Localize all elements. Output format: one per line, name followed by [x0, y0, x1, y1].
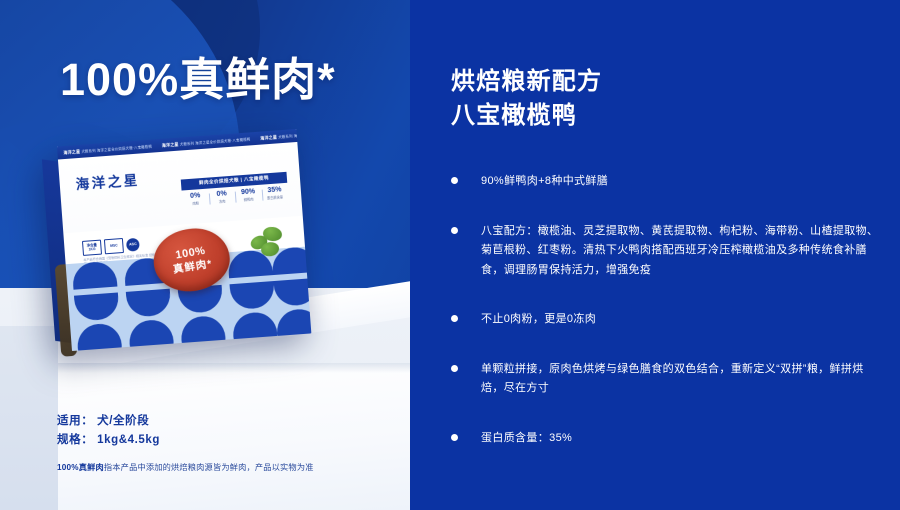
product-spec-block: 适用： 犬/全阶段 规格： 1kg&4.5kg [57, 412, 160, 450]
bullet-dot-icon [451, 177, 458, 184]
section-title-line2: 八宝橄榄鸭 [451, 99, 602, 133]
certification-badges: 净含量 1KG MSC ASC [82, 237, 140, 256]
band-tag-1: 犬粮系列 [180, 141, 195, 146]
spec-stat-value: 0% [208, 189, 235, 198]
section-title-line1: 烘焙粮新配方 [451, 65, 602, 99]
product-marketing-banner: 100%真鲜肉* 海洋之星 犬粮系列 海洋之星全价烘焙犬粮·八宝橄榄鸭 海洋之星… [0, 0, 900, 510]
band-brand-2: 海洋之星 [260, 134, 277, 140]
feature-list: 90%鲜鸭肉+8种中式鲜膳 八宝配方：橄榄油、灵芝提取物、黄芪提取物、枸杞粉、海… [451, 172, 883, 479]
spec-line-size: 规格： 1kg&4.5kg [57, 431, 160, 450]
band-url-0: 海洋之星全价烘焙犬粮·八宝橄榄鸭 [97, 144, 152, 152]
spec-line-usage: 适用： 犬/全阶段 [57, 412, 160, 431]
list-item: 蛋白质含量：35% [451, 429, 883, 449]
band-tag-0: 犬粮系列 [81, 148, 96, 153]
spec-stat-value: 90% [235, 187, 262, 196]
bullet-dot-icon [451, 365, 458, 372]
list-item-text: 单颗粒拼接，原肉色烘烤与绿色膳食的双色结合，重新定义“双拼”粮，鲜拼烘焙，尽在方… [481, 360, 883, 399]
product-package: 海洋之星 犬粮系列 海洋之星全价烘焙犬粮·八宝橄榄鸭 海洋之星 犬粮系列 海洋之… [57, 129, 311, 351]
band-tag-2: 犬粮系列 [278, 134, 293, 139]
list-item: 不止0肉粉，更是0冻肉 [451, 310, 883, 330]
asc-certification-icon: ASC [126, 238, 140, 252]
spec-stat-value: 35% [261, 186, 288, 195]
bullet-dot-icon [451, 315, 458, 322]
list-item-text: 蛋白质含量：35% [481, 429, 572, 449]
net-weight-badge: 净含量 1KG [82, 240, 102, 256]
list-item-text: 不止0肉粉，更是0冻肉 [481, 310, 596, 330]
list-item: 单颗粒拼接，原肉色烘烤与绿色膳食的双色结合，重新定义“双拼”粮，鲜拼烘焙，尽在方… [451, 360, 883, 399]
band-brand-1: 海洋之星 [162, 141, 179, 147]
footnote-bold-part: 100%真鲜肉 [57, 463, 104, 472]
bullet-dot-icon [451, 227, 458, 234]
footnote-rest-part: 指本产品中添加的烘焙粮肉源皆为鲜肉，产品以实物为准 [104, 463, 314, 472]
olive-illustration [250, 225, 296, 262]
spec-stat: 0% 肉粉 [182, 191, 209, 206]
spec-stat: 90% 鲜鸭肉 [235, 187, 262, 202]
band-url-1: 海洋之星全价烘焙犬粮·八宝橄榄鸭 [195, 137, 250, 145]
list-item: 八宝配方：橄榄油、灵芝提取物、黄芪提取物、枸杞粉、海带粉、山楂提取物、菊苣根粉、… [451, 222, 883, 281]
list-item-text: 90%鲜鸭肉+8种中式鲜膳 [481, 172, 608, 192]
spec-stat: 35% 蛋白质含量 [261, 186, 288, 201]
section-title: 烘焙粮新配方 八宝橄榄鸭 [451, 65, 602, 133]
band-brand-0: 海洋之星 [63, 148, 80, 154]
page-title: 100%真鲜肉* [60, 57, 336, 102]
spec-stat: 0% 冻肉 [208, 189, 235, 204]
right-panel: 烘焙粮新配方 八宝橄榄鸭 90%鲜鸭肉+8种中式鲜膳 八宝配方：橄榄油、灵芝提取… [410, 0, 900, 510]
msc-certification-icon: MSC [104, 238, 124, 254]
pedestal-side-face [0, 326, 60, 510]
list-item: 90%鲜鸭肉+8种中式鲜膳 [451, 172, 883, 192]
list-item-text: 八宝配方：橄榄油、灵芝提取物、黄芪提取物、枸杞粉、海带粉、山楂提取物、菊苣根粉、… [481, 222, 883, 281]
legal-footnote: 100%真鲜肉指本产品中添加的烘焙粮肉源皆为鲜肉，产品以实物为准 [57, 461, 314, 473]
seal-label: 真鲜肉* [172, 259, 213, 276]
bullet-dot-icon [451, 434, 458, 441]
spec-stat-value: 0% [182, 191, 209, 200]
pedestal-shadow [58, 363, 410, 373]
package-front-panel: 海洋之星 犬粮系列 海洋之星全价烘焙犬粮·八宝橄榄鸭 海洋之星 犬粮系列 海洋之… [57, 129, 311, 351]
left-panel: 100%真鲜肉* 海洋之星 犬粮系列 海洋之星全价烘焙犬粮·八宝橄榄鸭 海洋之星… [0, 0, 410, 510]
